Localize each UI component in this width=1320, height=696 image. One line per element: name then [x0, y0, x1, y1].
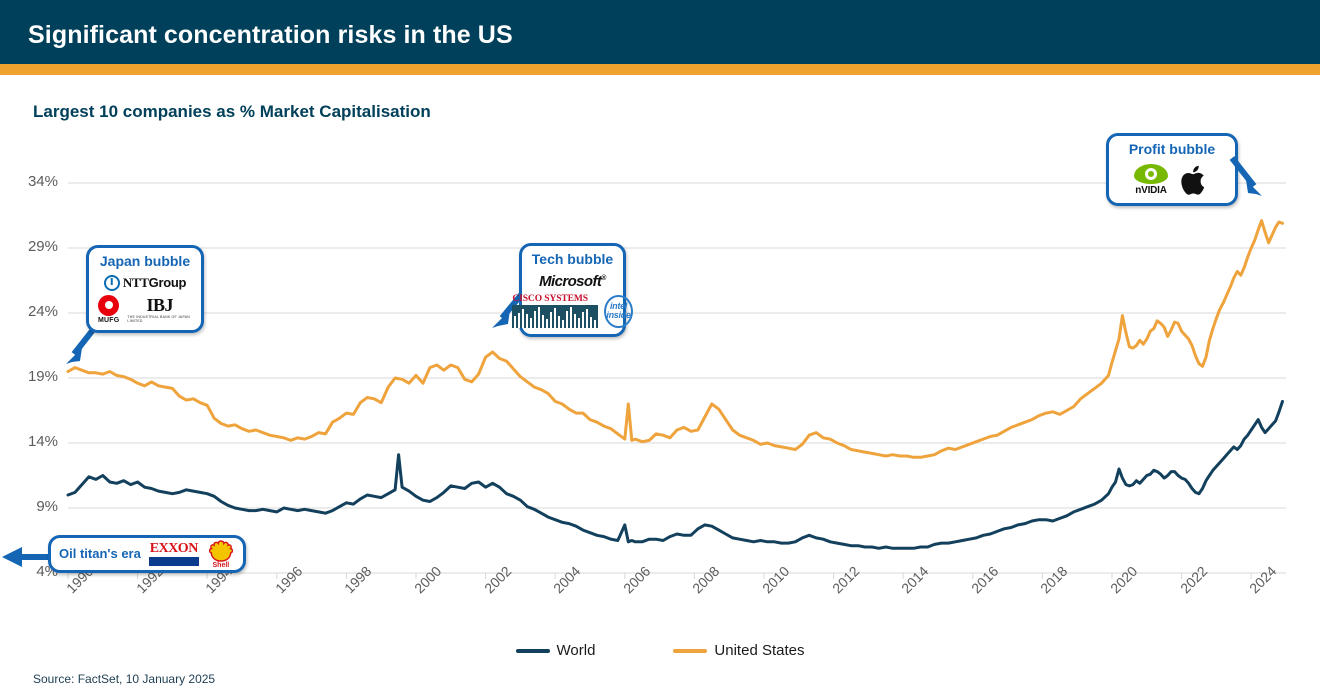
- nvidia-logo-text: nVIDIA: [1135, 185, 1167, 196]
- ntt-logo-text: NTT: [123, 275, 149, 290]
- y-tick-label: 19%: [10, 368, 58, 385]
- exxon-logo-text: EXXON: [149, 542, 199, 557]
- mufg-mark-icon: [98, 295, 119, 316]
- intel-inside-logo: intel inside: [604, 295, 632, 328]
- nvidia-logo: nVIDIA: [1134, 164, 1168, 196]
- chart-legend: World United States: [0, 642, 1320, 659]
- cisco-bars-icon: [512, 305, 598, 328]
- shell-logo-text: Shell: [213, 562, 230, 569]
- mufg-logo: MUFG: [98, 295, 119, 324]
- ibj-logo: IBJ THE INDUSTRIAL BANK OF JAPAN LIMITED: [127, 296, 192, 323]
- ntt-mark-icon: [104, 275, 120, 291]
- series-line-world: [68, 401, 1283, 548]
- y-tick-label: 14%: [10, 433, 58, 450]
- callout-profit-bubble: Profit bubble nVIDIA: [1106, 133, 1238, 206]
- profit-bubble-arrow: [1222, 152, 1270, 204]
- tech-logo-row-2: CISCO SYSTEMS: [531, 294, 614, 328]
- y-tick-label: 24%: [10, 303, 58, 320]
- nvidia-eye-icon: [1134, 164, 1168, 184]
- cisco-systems-logo: CISCO SYSTEMS: [512, 294, 598, 328]
- ntt-group-logo-text: Group: [149, 275, 187, 290]
- tech-logo-row-1: Microsoft®: [531, 273, 614, 290]
- ibj-logo-subtext: THE INDUSTRIAL BANK OF JAPAN LIMITED: [127, 315, 192, 323]
- legend-swatch-united-states: [673, 649, 707, 653]
- y-tick-label: 34%: [10, 173, 58, 190]
- legend-item-world[interactable]: World: [516, 642, 596, 659]
- callout-tech-bubble-title: Tech bubble: [531, 251, 614, 269]
- intel-inside-logo-text: inside: [606, 311, 630, 320]
- callout-tech-bubble: Tech bubble Microsoft® CISCO SYSTEMS: [519, 243, 626, 337]
- legend-label-world: World: [557, 642, 596, 659]
- shell-pecten-icon: [207, 540, 235, 564]
- japan-logo-row-1: NTTGroup: [98, 275, 192, 291]
- microsoft-logo: Microsoft®: [539, 273, 606, 290]
- exxon-logo: EXXON: [149, 542, 199, 567]
- apple-logo: [1180, 163, 1210, 197]
- chart-area: 4%9%14%19%24%29%34% 19901992199419961998…: [0, 0, 1320, 696]
- callout-oil-titans-era-title: Oil titan's era: [59, 546, 141, 562]
- japan-logo-row-2: MUFG IBJ THE INDUSTRIAL BANK OF JAPAN LI…: [98, 295, 192, 324]
- exxon-bar-icon: [149, 557, 199, 566]
- callout-oil-titans-era: Oil titan's era EXXON Shell: [48, 535, 246, 573]
- source-note: Source: FactSet, 10 January 2025: [33, 672, 215, 686]
- ibj-logo-text: IBJ: [146, 296, 173, 314]
- y-tick-label: 29%: [10, 238, 58, 255]
- legend-item-united-states[interactable]: United States: [673, 642, 804, 659]
- apple-icon: [1180, 163, 1210, 197]
- callout-profit-bubble-title: Profit bubble: [1118, 141, 1226, 159]
- callout-japan-bubble-title: Japan bubble: [98, 253, 192, 271]
- cisco-logo-text: CISCO SYSTEMS: [512, 294, 598, 304]
- series-line-united-states: [68, 221, 1283, 458]
- microsoft-logo-text: Microsoft: [539, 273, 601, 290]
- legend-swatch-world: [516, 649, 550, 653]
- y-tick-label: 9%: [10, 498, 58, 515]
- ntt-group-logo: NTTGroup: [104, 275, 186, 291]
- callout-japan-bubble: Japan bubble NTTGroup MUFG IBJ THE INDUS…: [86, 245, 204, 333]
- profit-logo-row: nVIDIA: [1118, 163, 1226, 197]
- mufg-logo-text: MUFG: [98, 317, 119, 324]
- legend-label-united-states: United States: [714, 642, 804, 659]
- shell-logo: Shell: [207, 540, 235, 569]
